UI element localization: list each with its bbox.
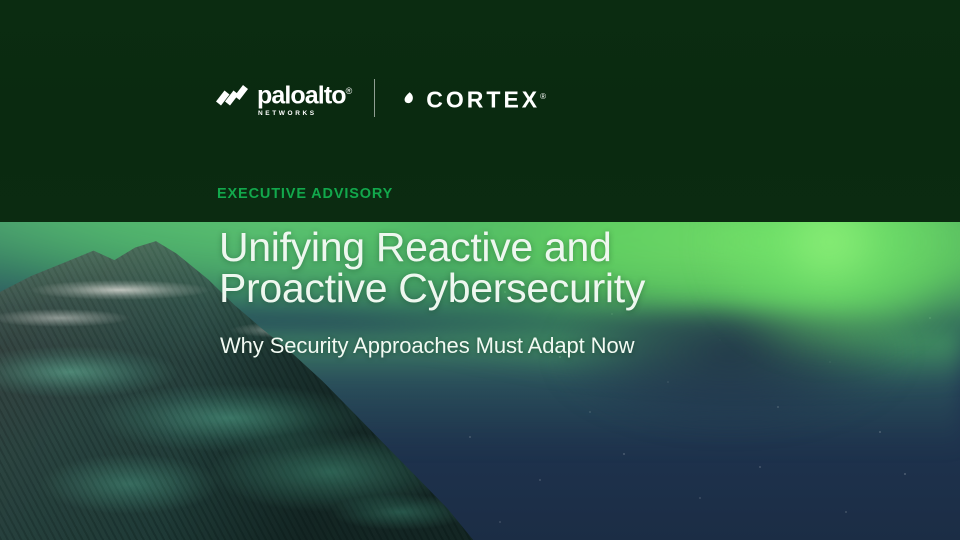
aurora-bright-ray [700, 222, 960, 392]
page-subtitle: Why Security Approaches Must Adapt Now [220, 333, 634, 359]
palo-alto-name: paloalto® [257, 78, 352, 108]
vertical-divider-icon [374, 79, 375, 117]
cortex-wordmark: CORTEX® [426, 85, 546, 112]
logo-lockup: paloalto® NETWORKS CORTEX® [216, 78, 546, 118]
page-title: Unifying Reactive and Proactive Cybersec… [219, 227, 645, 309]
palo-alto-tagline: NETWORKS [258, 109, 317, 118]
cortex-logo: CORTEX® [397, 85, 546, 112]
palo-alto-networks-mark-icon [216, 85, 248, 112]
palo-alto-wordmark: paloalto® NETWORKS [257, 78, 352, 118]
eyebrow-label: EXECUTIVE ADVISORY [217, 186, 393, 203]
title-slide: paloalto® NETWORKS CORTEX® EXECUTIVE ADV… [0, 0, 960, 540]
registered-mark: ® [540, 92, 546, 101]
registered-mark: ® [346, 86, 353, 96]
palo-alto-networks-logo: paloalto® NETWORKS [216, 78, 352, 118]
cortex-mark-icon [397, 88, 417, 108]
